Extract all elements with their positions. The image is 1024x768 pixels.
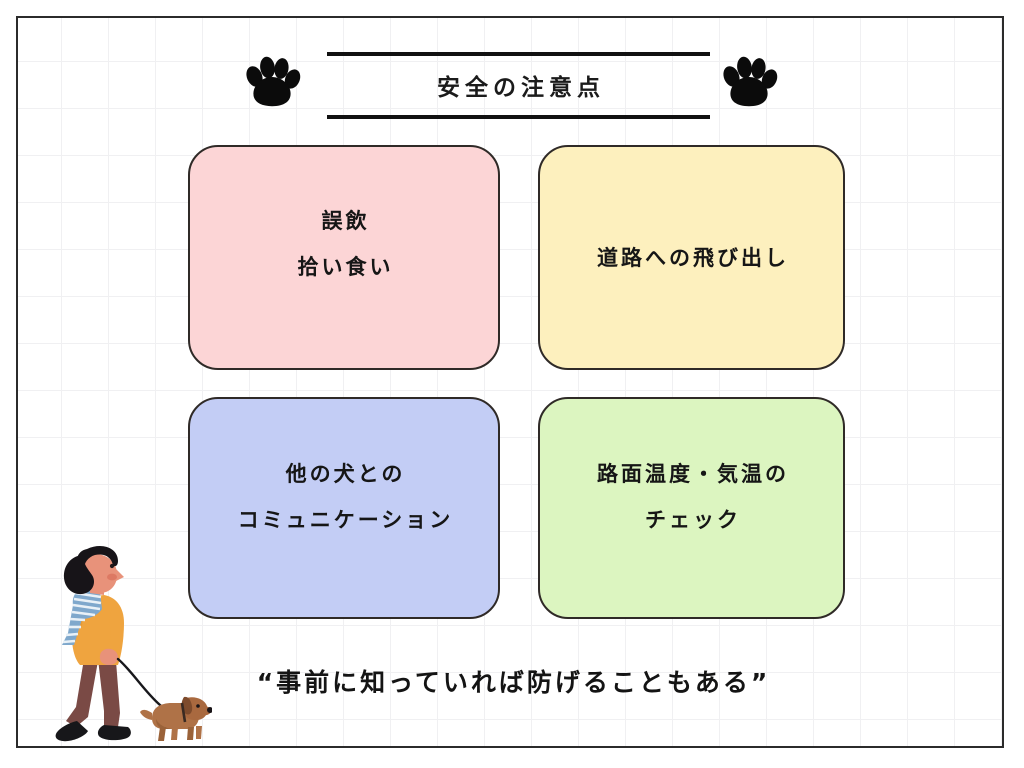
card-line: 他の犬との — [283, 451, 406, 497]
paw-print-icon — [243, 56, 301, 110]
card-line: 拾い食い — [295, 244, 394, 290]
card-line: チェック — [642, 497, 741, 543]
card-ingestion[interactable]: 誤飲 拾い食い — [188, 145, 500, 370]
title-block: 安全の注意点 — [18, 28, 1004, 136]
card-road-dash[interactable]: 道路への飛び出し — [538, 145, 845, 370]
slide-canvas: 安全の注意点 誤飲 拾い食い 道路への飛び出し 他の犬との コミュニケーション … — [16, 16, 1004, 748]
card-line: 誤飲 — [319, 198, 370, 244]
card-temperature[interactable]: 路面温度・気温の チェック — [538, 397, 845, 619]
woman-walking-dog-illustration — [32, 541, 212, 748]
title-rule-bottom — [327, 115, 710, 119]
page-title: 安全の注意点 — [327, 66, 710, 110]
card-line: コミュニケーション — [235, 497, 454, 543]
title-rule-top — [327, 52, 710, 56]
card-dog-communication[interactable]: 他の犬との コミュニケーション — [188, 397, 500, 619]
card-line: 道路への飛び出し — [594, 235, 789, 281]
card-line: 路面温度・気温の — [594, 451, 789, 497]
paw-print-icon — [720, 56, 778, 110]
